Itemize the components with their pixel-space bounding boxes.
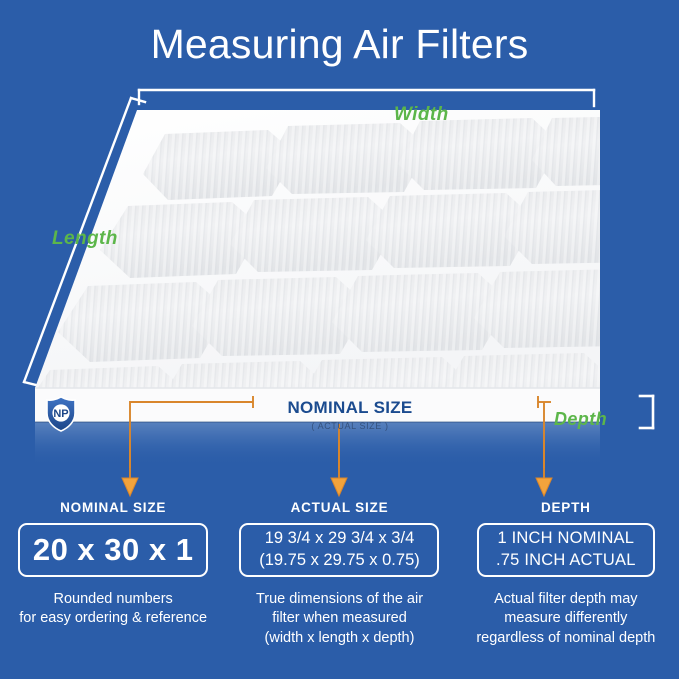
column-depth: DEPTH 1 INCH NOMINAL .75 INCH ACTUAL Act…: [453, 500, 679, 648]
column-depth-value-box: 1 INCH NOMINAL .75 INCH ACTUAL: [477, 523, 655, 577]
width-label: Width: [394, 104, 449, 126]
nominal-size-plaque: NOMINAL SIZE ( ACTUAL SIZE ): [255, 399, 445, 431]
depth-bracket-svg: [640, 396, 653, 428]
length-label: Length: [52, 228, 118, 250]
logo-text: NP: [53, 408, 68, 420]
column-actual-value-box: 19 3/4 x 29 3/4 x 3/4 (19.75 x 29.75 x 0…: [239, 523, 439, 577]
column-nominal-value-line: 20 x 30 x 1: [33, 532, 194, 568]
page-title: Measuring Air Filters: [0, 22, 679, 67]
column-actual-caption: True dimensions of the air filter when m…: [256, 590, 423, 648]
column-depth-caption: Actual filter depth may measure differen…: [476, 590, 655, 648]
column-depth-value-line-1: 1 INCH NOMINAL: [497, 528, 634, 550]
column-nominal-heading: NOMINAL SIZE: [60, 500, 166, 515]
column-depth-value-line-2: .75 INCH ACTUAL: [496, 550, 636, 572]
column-actual-heading: ACTUAL SIZE: [291, 500, 389, 515]
column-depth-heading: DEPTH: [541, 500, 591, 515]
column-nominal-value-box: 20 x 30 x 1: [18, 523, 208, 577]
column-actual: ACTUAL SIZE 19 3/4 x 29 3/4 x 3/4 (19.75…: [226, 500, 452, 648]
summary-columns: NOMINAL SIZE 20 x 30 x 1 Rounded numbers…: [0, 500, 679, 648]
depth-label: Depth: [554, 409, 607, 430]
np-shield-logo-icon: NP: [44, 396, 78, 432]
column-actual-value-line-2: (19.75 x 29.75 x 0.75): [259, 550, 420, 572]
nominal-size-plaque-title: NOMINAL SIZE: [255, 399, 445, 418]
column-actual-value-line-1: 19 3/4 x 29 3/4 x 3/4: [265, 528, 415, 550]
column-nominal-caption: Rounded numbers for easy ordering & refe…: [19, 590, 207, 629]
infographic-root: Measuring Air Filters: [0, 0, 679, 679]
nominal-size-plaque-subtitle: ( ACTUAL SIZE ): [255, 421, 445, 431]
width-bracket-svg: [139, 90, 594, 106]
column-nominal: NOMINAL SIZE 20 x 30 x 1 Rounded numbers…: [0, 500, 226, 648]
